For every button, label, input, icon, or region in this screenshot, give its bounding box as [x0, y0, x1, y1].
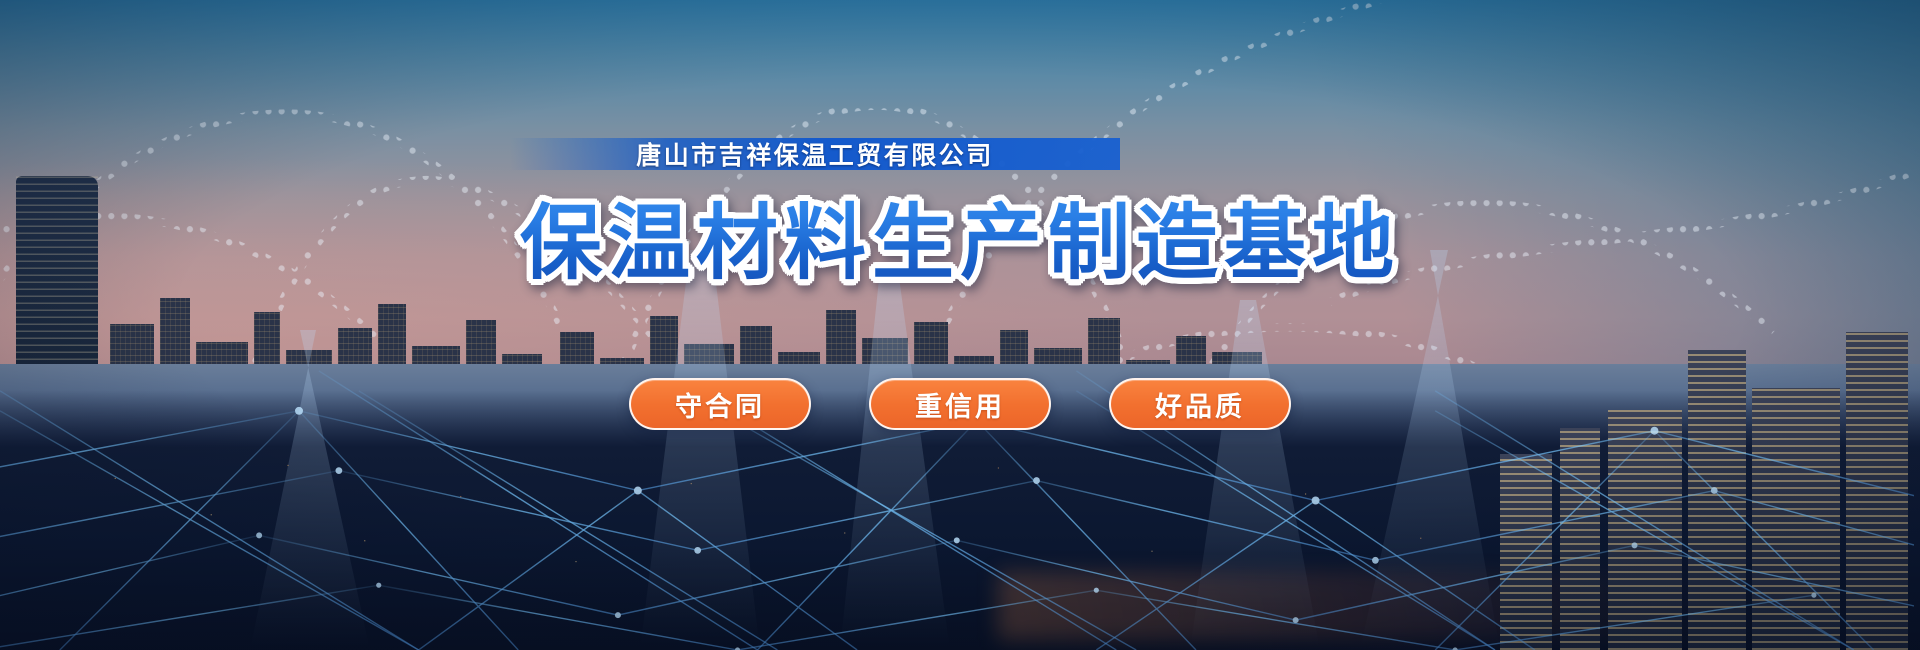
feature-pill-shou-he-tong[interactable]: 守合同 [629, 378, 811, 430]
headline-title: 保温材料生产制造基地 [520, 176, 1400, 295]
feature-pill-group: 守合同 重信用 好品质 [0, 378, 1920, 430]
headline-wrapper: 保温材料生产制造基地 [0, 176, 1920, 295]
feature-pill-hao-pin-zhi[interactable]: 好品质 [1109, 378, 1291, 430]
feature-pill-label: 守合同 [675, 385, 765, 424]
feature-pill-zhong-xin-yong[interactable]: 重信用 [869, 378, 1051, 430]
feature-pill-label: 好品质 [1155, 385, 1245, 424]
hero-banner: 唐山市吉祥保温工贸有限公司 保温材料生产制造基地 守合同 重信用 好品质 [0, 0, 1920, 650]
company-name: 唐山市吉祥保温工贸有限公司 [636, 136, 994, 172]
feature-pill-label: 重信用 [915, 385, 1005, 424]
banner-content: 唐山市吉祥保温工贸有限公司 保温材料生产制造基地 守合同 重信用 好品质 [0, 0, 1920, 650]
company-name-bar: 唐山市吉祥保温工贸有限公司 [510, 138, 1120, 170]
